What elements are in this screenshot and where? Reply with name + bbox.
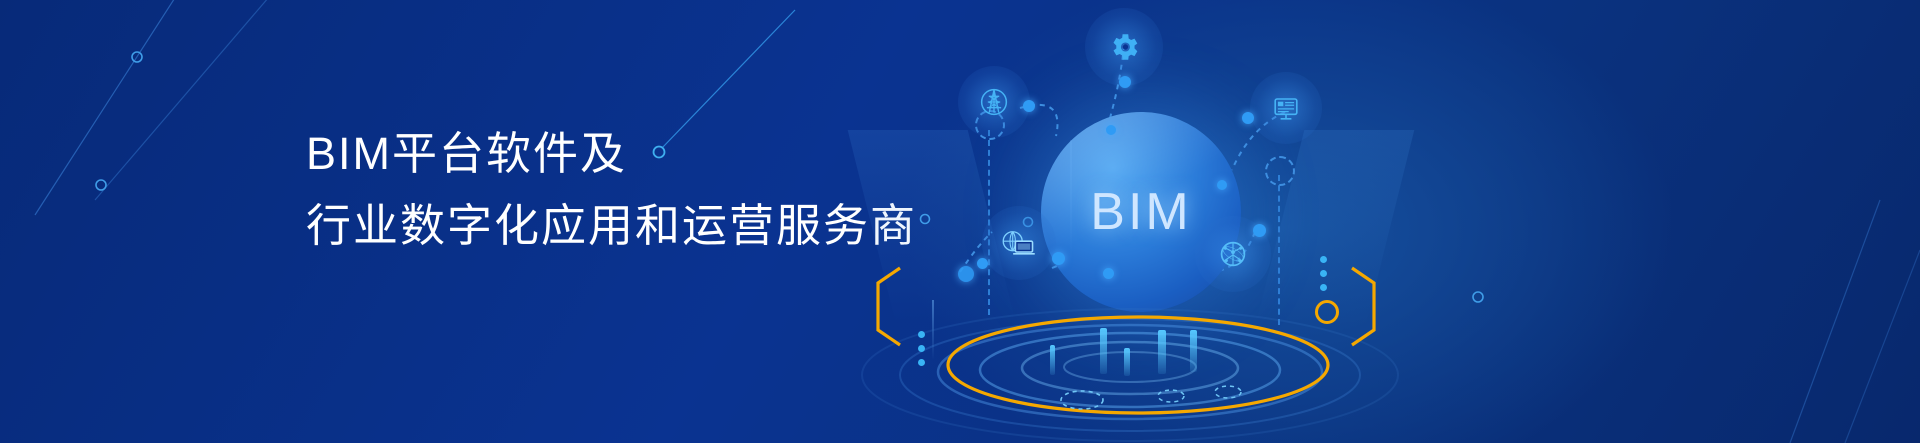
orange-brackets	[860, 0, 1920, 443]
headline-line-2: 行业数字化应用和运营服务商	[306, 190, 946, 262]
bim-illustration: BIM	[860, 0, 1920, 443]
banner-root: BIM平台软件及 行业数字化应用和运营服务商 BIM	[0, 0, 1920, 443]
dot-cluster-right-3	[1320, 284, 1327, 291]
dot-cluster-left-2	[918, 345, 925, 352]
base-glow-dot	[958, 266, 974, 282]
dot-cluster-left-3	[918, 359, 925, 366]
orange-small-ring	[1315, 300, 1339, 324]
dot-cluster-right-1	[1320, 256, 1327, 263]
headline-line-1: BIM平台软件及	[306, 118, 946, 190]
dot-cluster-left-1	[918, 331, 925, 338]
dot-cluster-right-2	[1320, 270, 1327, 277]
